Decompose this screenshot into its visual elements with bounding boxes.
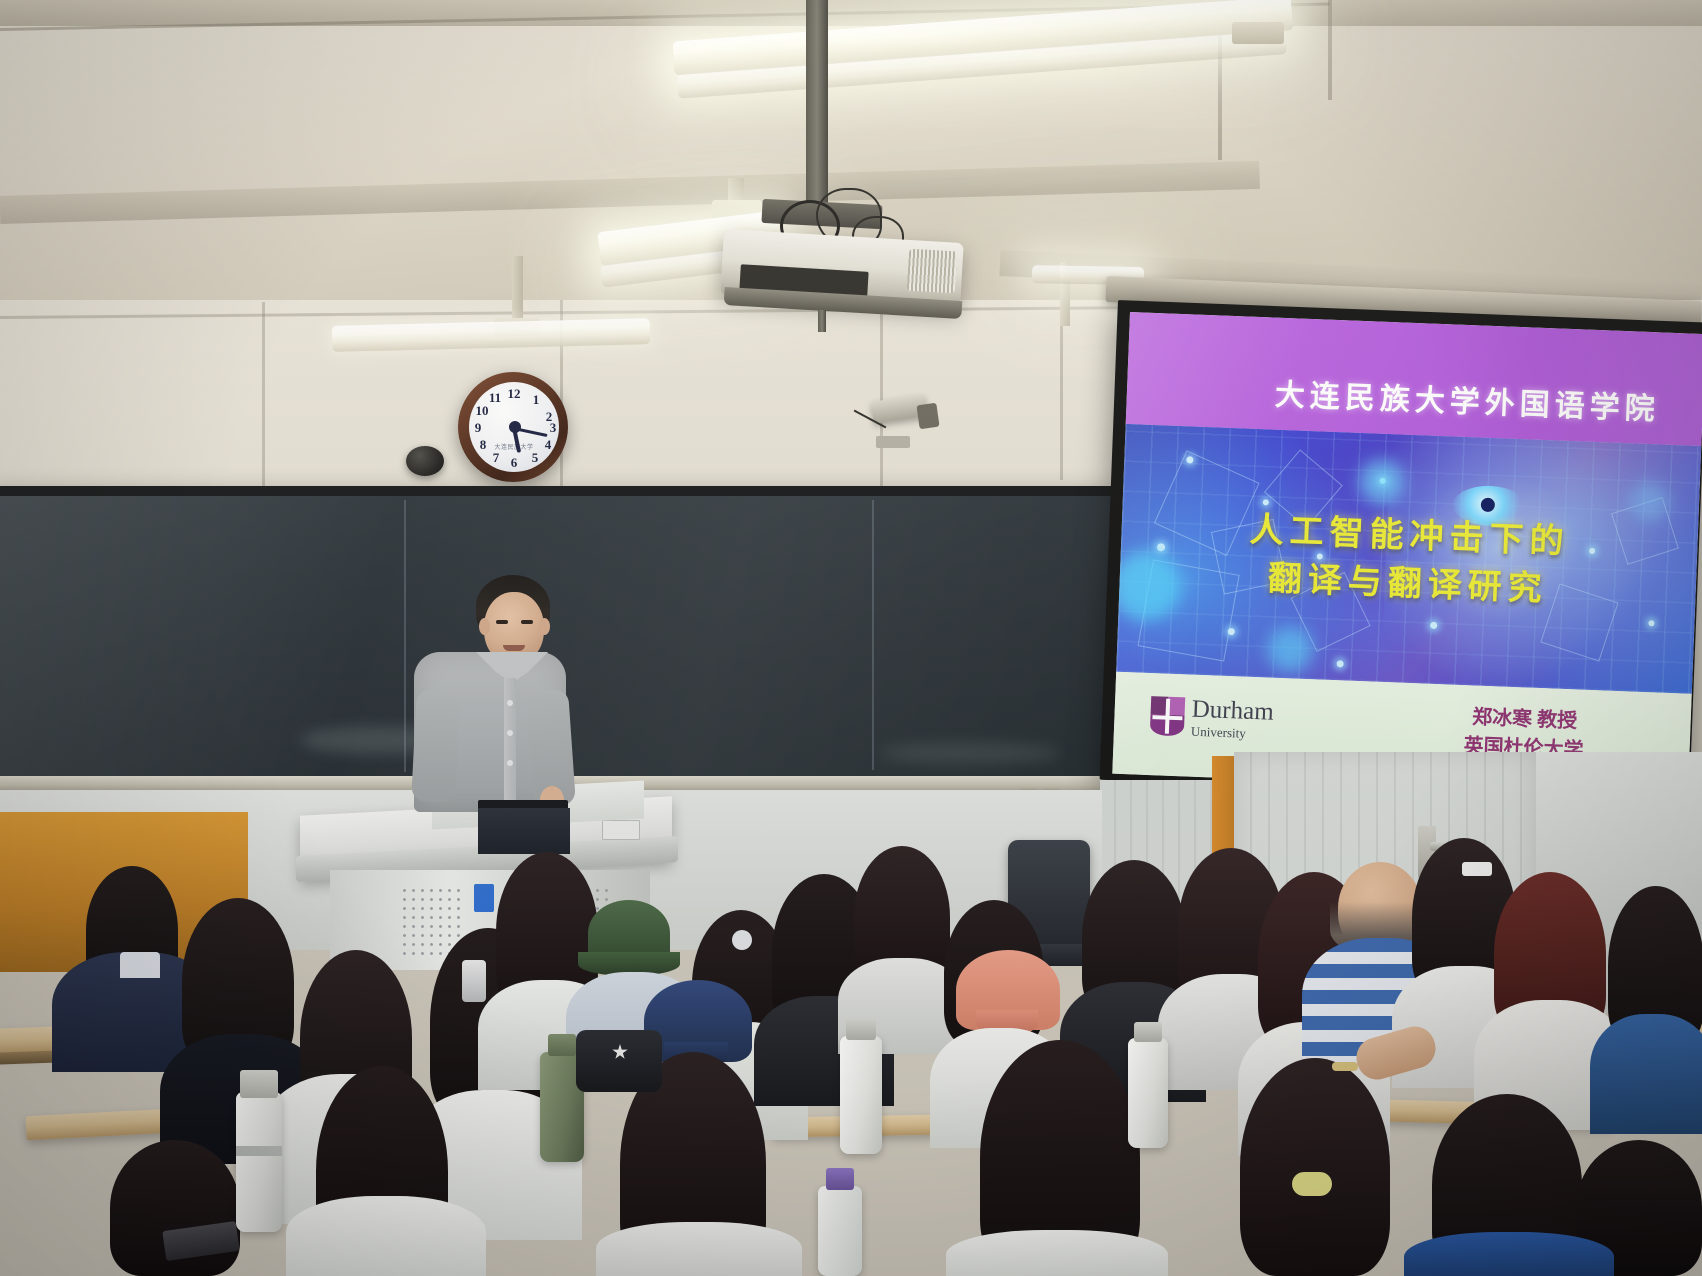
audience-hair-r2-4	[1240, 1058, 1390, 1276]
durham-shield-icon	[1150, 696, 1186, 737]
clock-brand-text: 大连民族大学	[479, 442, 549, 451]
lectern-badge	[474, 884, 494, 912]
white-thermos-bottle	[236, 1092, 282, 1232]
audience-shoulders-r2-3	[946, 1230, 1168, 1276]
white-thermos-cap	[240, 1070, 278, 1098]
presenter-ear-right	[539, 618, 550, 635]
audience-shoulders-r2-5	[1404, 1232, 1614, 1276]
white-bottle-right-2-cap	[1134, 1022, 1162, 1042]
hair-clip-r1-14	[1462, 862, 1492, 876]
durham-sub: University	[1191, 725, 1273, 741]
presenter-shirt-placket	[504, 678, 516, 806]
presenter-shirt-button-2	[507, 730, 513, 736]
durham-wordmark: Durham University	[1191, 697, 1274, 741]
clock-numeral-6: 6	[506, 455, 522, 471]
clear-bottle-cap	[826, 1168, 854, 1190]
presenter-eye-right	[521, 620, 533, 624]
green-thermos-cap	[548, 1034, 576, 1056]
presenter-arm-left	[411, 689, 461, 803]
white-bottle-right-1-cap	[846, 1018, 876, 1040]
clear-water-bottle	[818, 1186, 862, 1276]
presentation-slide: 大连民族大学外国语学院	[1112, 312, 1702, 796]
presenter-mouth	[503, 645, 525, 651]
audience-shoulders-r2-2	[596, 1222, 802, 1276]
projector-vent-grille	[907, 249, 957, 294]
shield-quadrant-tr	[1168, 696, 1186, 715]
presenter-eye-left	[496, 620, 508, 624]
clock-numeral-5: 5	[527, 450, 543, 466]
camera-wall-mount	[876, 436, 910, 448]
presenter-ear-left	[479, 618, 490, 635]
white-bottle-right-2	[1128, 1038, 1168, 1148]
audience-shoulders-r1-16	[1590, 1014, 1702, 1134]
durham-university-logo: Durham University	[1150, 695, 1274, 741]
presenter-shirt-button-3	[507, 760, 513, 766]
light-cap-right	[1232, 22, 1284, 44]
wall-seam-v3	[1060, 300, 1063, 480]
white-bottle-right-1	[840, 1036, 882, 1154]
durham-name: Durham	[1191, 697, 1274, 725]
yellow-hair-tie-r2-4	[1292, 1172, 1332, 1196]
ceiling-seam-3	[1328, 0, 1332, 100]
clock-numeral-11: 11	[487, 390, 503, 406]
clock-center-pin	[509, 421, 521, 433]
hair-tie-r1-7	[732, 930, 752, 950]
presenter-shirt-button-1	[507, 700, 513, 706]
hair-clip-r1-4	[462, 960, 486, 1002]
clock-numeral-3: 3	[545, 420, 561, 436]
projector-lens-stem	[818, 310, 826, 332]
lectern-spec-sticker	[602, 820, 640, 840]
audience-collar-r1-1	[120, 952, 160, 978]
wall-speaker	[406, 446, 444, 476]
thermos-band	[236, 1146, 282, 1156]
presenter-trousers	[478, 808, 570, 854]
clock-numeral-9: 9	[470, 420, 486, 436]
black-backpack	[576, 1030, 662, 1092]
blackboard-chalk-smudge-2	[880, 742, 1060, 764]
projector-ceiling-pole	[806, 0, 828, 206]
wall-seam-v2	[880, 300, 883, 490]
clock-numeral-1: 1	[528, 392, 544, 408]
wall-seam-v4	[262, 302, 265, 488]
classroom-photo-scene: 12 1 2 3 4 5 6 7 8 9 10 11 大连民族大学 大连民族大学…	[0, 0, 1702, 1276]
student-wrist-bracelet	[1332, 1062, 1358, 1071]
audience-shoulders-r2-1	[286, 1196, 486, 1276]
blackboard-divider-right	[872, 500, 874, 770]
clock-numeral-12: 12	[506, 386, 522, 402]
camera-lens	[916, 403, 939, 430]
